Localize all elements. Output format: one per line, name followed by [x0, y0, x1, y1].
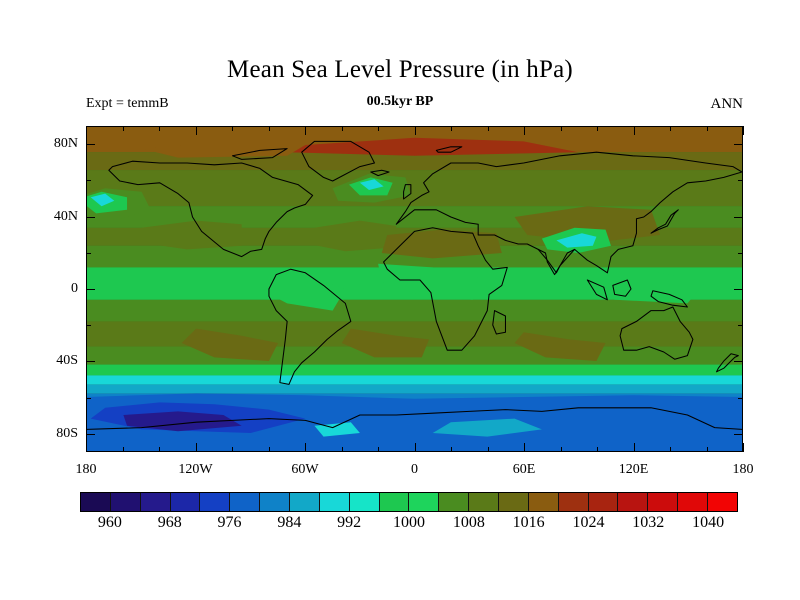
figure-canvas: Mean Sea Level Pressure (in hPa) 00.5kyr…: [0, 0, 800, 600]
colorbar-cell-4: [200, 493, 230, 511]
x-tick: [232, 447, 233, 452]
colorbar-cell-5: [230, 493, 260, 511]
x-tick: [634, 126, 635, 135]
x-tick: [378, 447, 379, 452]
x-tick: [707, 447, 708, 452]
y-axis-label-80N: 80N: [54, 136, 78, 152]
colorbar-cell-12: [439, 493, 469, 511]
colorbar-cell-17: [589, 493, 619, 511]
y-tick: [734, 144, 743, 145]
y-tick: [86, 253, 91, 254]
y-tick: [86, 289, 95, 290]
y-axis-label-40S: 40S: [56, 353, 78, 369]
y-tick: [734, 361, 743, 362]
x-tick: [597, 447, 598, 452]
x-tick: [269, 447, 270, 452]
x-tick: [342, 447, 343, 452]
colorbar-cell-9: [350, 493, 380, 511]
x-axis-label-180: 180: [733, 462, 754, 478]
colorbar-tick-976: 976: [218, 514, 242, 532]
x-axis-label-180: 180: [76, 462, 97, 478]
x-tick: [634, 443, 635, 452]
x-tick: [488, 447, 489, 452]
colorbar-cell-19: [648, 493, 678, 511]
x-tick: [561, 447, 562, 452]
x-tick: [670, 447, 671, 452]
colorbar-cell-10: [380, 493, 410, 511]
x-tick: [488, 126, 489, 131]
colorbar-cell-7: [290, 493, 320, 511]
x-tick: [232, 126, 233, 131]
y-axis-label-0: 0: [71, 281, 78, 297]
x-tick: [196, 443, 197, 452]
x-tick: [597, 126, 598, 131]
y-tick: [738, 325, 743, 326]
colorbar-cell-13: [469, 493, 499, 511]
colorbar-tick-1016: 1016: [513, 514, 545, 532]
y-tick: [86, 144, 95, 145]
colorbar-labels: 960968976984992100010081016102410321040: [0, 514, 800, 540]
y-tick: [734, 434, 743, 435]
x-tick: [707, 126, 708, 131]
y-tick: [86, 217, 95, 218]
x-tick: [123, 447, 124, 452]
x-tick: [159, 126, 160, 131]
x-tick: [123, 126, 124, 131]
y-tick: [86, 325, 91, 326]
colorbar-tick-968: 968: [158, 514, 182, 532]
x-tick: [743, 443, 744, 452]
x-axis-label-60E: 60E: [513, 462, 536, 478]
x-axis-label-120W: 120W: [178, 462, 212, 478]
x-axis-label-0: 0: [411, 462, 418, 478]
y-tick: [86, 361, 95, 362]
x-tick: [378, 126, 379, 131]
x-tick: [561, 126, 562, 131]
y-tick: [738, 398, 743, 399]
colorbar-cell-0: [81, 493, 111, 511]
colorbar-cell-3: [171, 493, 201, 511]
colorbar-cell-8: [320, 493, 350, 511]
y-tick: [86, 434, 95, 435]
colorbar-cell-11: [409, 493, 439, 511]
y-axis-label-40N: 40N: [54, 209, 78, 225]
colorbar-cell-6: [260, 493, 290, 511]
x-tick: [86, 126, 87, 135]
colorbar-cell-1: [111, 493, 141, 511]
x-axis-label-60W: 60W: [291, 462, 318, 478]
x-tick: [415, 126, 416, 135]
y-tick: [734, 217, 743, 218]
y-tick: [734, 289, 743, 290]
x-tick: [524, 443, 525, 452]
colorbar-cell-18: [618, 493, 648, 511]
y-tick: [86, 180, 91, 181]
y-tick: [86, 398, 91, 399]
x-tick: [159, 447, 160, 452]
y-axis-label-80S: 80S: [56, 426, 78, 442]
colorbar-cell-15: [529, 493, 559, 511]
colorbar-cell-20: [678, 493, 708, 511]
colorbar: [80, 492, 738, 512]
x-tick: [196, 126, 197, 135]
x-tick: [86, 443, 87, 452]
x-tick: [269, 126, 270, 131]
x-tick: [305, 126, 306, 135]
x-tick: [451, 447, 452, 452]
colorbar-tick-1024: 1024: [572, 514, 604, 532]
colorbar-cell-2: [141, 493, 171, 511]
x-tick: [342, 126, 343, 131]
colorbar-tick-960: 960: [98, 514, 122, 532]
colorbar-cell-16: [559, 493, 589, 511]
colorbar-tick-992: 992: [337, 514, 361, 532]
colorbar-tick-1032: 1032: [632, 514, 664, 532]
x-tick: [305, 443, 306, 452]
y-tick: [738, 180, 743, 181]
x-tick: [451, 126, 452, 131]
colorbar-cell-21: [708, 493, 737, 511]
y-tick: [738, 253, 743, 254]
colorbar-tick-984: 984: [277, 514, 301, 532]
x-axis-label-120E: 120E: [619, 462, 649, 478]
colorbar-cell-14: [499, 493, 529, 511]
colorbar-tick-1040: 1040: [692, 514, 724, 532]
x-tick: [670, 126, 671, 131]
x-tick: [743, 126, 744, 135]
x-tick: [524, 126, 525, 135]
colorbar-tick-1008: 1008: [453, 514, 485, 532]
x-tick: [415, 443, 416, 452]
colorbar-tick-1000: 1000: [393, 514, 425, 532]
